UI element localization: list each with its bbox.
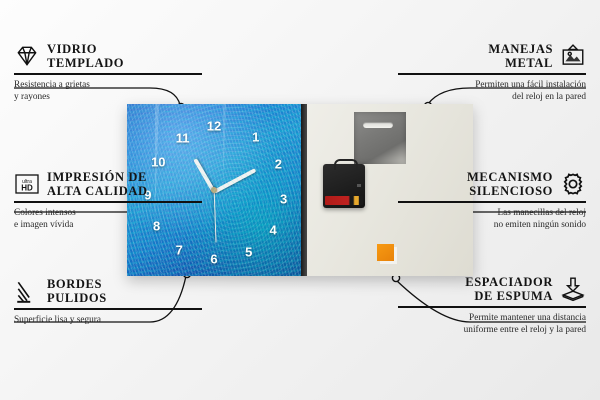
diamond-icon xyxy=(14,43,40,69)
callout-sub-line1: Permiten una fácil instalación xyxy=(398,79,586,91)
clock-center-pivot xyxy=(211,187,217,193)
infographic-stage: 12 1 2 3 4 5 6 7 8 9 10 11 xyxy=(0,0,600,400)
callout-bordes-pulidos: BORDES PULIDOS Superficie lisa y segura xyxy=(14,277,202,326)
polished-edges-icon xyxy=(14,278,40,304)
clock-numeral-1: 1 xyxy=(252,130,259,143)
callout-impresion-alta-calidad: ultra HD IMPRESIÓN DE ALTA CALIDAD Color… xyxy=(14,170,202,231)
callout-rule xyxy=(14,73,202,75)
clock-numeral-7: 7 xyxy=(176,244,183,257)
callout-title-line2: TEMPLADO xyxy=(47,56,124,70)
callout-title-line1: MECANISMO xyxy=(467,170,553,184)
mechanism-label-stripe xyxy=(325,196,363,205)
callout-sub-line1: Resistencia a grietas xyxy=(14,79,202,91)
callout-title-line1: MANEJAS xyxy=(488,42,553,56)
svg-text:HD: HD xyxy=(21,184,33,193)
mechanism-dial xyxy=(357,184,361,187)
clock-numeral-6: 6 xyxy=(210,252,217,265)
callout-sub-line1: Las manecillas del reloj xyxy=(398,207,586,219)
clock-numeral-12: 12 xyxy=(207,120,221,133)
callout-title-line1: ESPACIADOR xyxy=(465,275,553,289)
callout-title-line2: PULIDOS xyxy=(47,291,107,305)
clock-numeral-5: 5 xyxy=(245,245,252,258)
callout-rule xyxy=(14,308,202,310)
clock-second-hand xyxy=(213,191,216,243)
callout-title-line2: SILENCIOSO xyxy=(467,184,553,198)
hanger-slot xyxy=(363,122,393,128)
foam-spacer xyxy=(377,244,394,261)
callout-title-line2: METAL xyxy=(488,56,553,70)
hanging-frame-icon xyxy=(560,43,586,69)
callout-rule xyxy=(398,201,586,203)
clock-mechanism xyxy=(323,164,365,208)
clock-numeral-3: 3 xyxy=(280,192,287,205)
callout-rule xyxy=(398,306,586,308)
callout-title-line1: BORDES xyxy=(47,277,107,291)
clock-minute-hand xyxy=(213,168,256,194)
ultra-hd-icon: ultra HD xyxy=(14,171,40,197)
clock-numeral-2: 2 xyxy=(275,158,282,171)
callout-title-line1: IMPRESIÓN DE xyxy=(47,170,148,184)
gear-icon xyxy=(560,171,586,197)
clock-numeral-10: 10 xyxy=(151,156,165,169)
callout-vidrio-templado: VIDRIO TEMPLADO Resistencia a grietas y … xyxy=(14,42,202,103)
callout-manejas-metal: MANEJAS METAL Permiten una fácil instala… xyxy=(398,42,586,103)
foam-spacer-icon xyxy=(560,276,586,302)
clock-numeral-4: 4 xyxy=(270,223,277,236)
callout-title-line2: ALTA CALIDAD xyxy=(47,184,148,198)
callout-rule xyxy=(14,201,202,203)
callout-title-line1: VIDRIO xyxy=(47,42,124,56)
callout-sub-line1: Superficie lisa y segura xyxy=(14,314,202,326)
callout-sub-line2: del reloj en la pared xyxy=(398,91,586,103)
callout-rule xyxy=(398,73,586,75)
callout-sub-line1: Colores intensos xyxy=(14,207,202,219)
callout-mecanismo-silencioso: MECANISMO SILENCIOSO Las manecillas del … xyxy=(398,170,586,231)
mechanism-handle xyxy=(334,159,358,170)
callout-sub-line2: e imagen vívida xyxy=(14,219,202,231)
callout-sub-line2: uniforme entre el reloj y la pared xyxy=(398,324,586,336)
callout-sub-line2: y rayones xyxy=(14,91,202,103)
callout-sub-line1: Permite mantener una distancia xyxy=(398,312,586,324)
callout-title-line2: DE ESPUMA xyxy=(465,289,553,303)
clock-numeral-11: 11 xyxy=(176,132,190,145)
callout-espaciador-espuma: ESPACIADOR DE ESPUMA Permite mantener un… xyxy=(398,275,586,336)
callout-sub-line2: no emiten ningún sonido xyxy=(398,219,586,231)
metal-hanger-plate xyxy=(354,112,406,164)
